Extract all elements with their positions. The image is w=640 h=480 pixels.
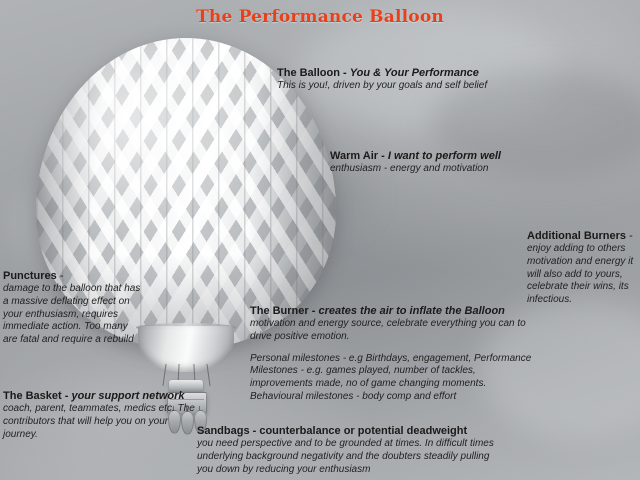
annotation-body: motivation and energy source, celebrate … [250,318,540,344]
annotation-heading: The Burner - creates the air to inflate … [250,304,540,318]
page-title: The Performance Balloon [0,7,640,27]
annotation-heading: The Balloon - You & Your Performance [277,66,537,80]
annotation-body: coach, parent, teammates, medics etc. Th… [3,403,195,441]
annotation-heading: Punctures - [3,269,143,283]
slide-canvas: The Performance Balloon The Balloon - Yo… [0,0,640,480]
heading-lead: Punctures [3,270,57,282]
annotation-body: enjoy adding to others motivation and en… [527,243,639,307]
heading-emphasis: I want to perform well [388,150,501,162]
annotation-additional-burners: Additional Burners - enjoy adding to oth… [527,229,639,307]
annotation-the-balloon: The Balloon - You & Your Performance Thi… [277,66,537,93]
heading-emphasis: You & Your Performance [350,67,479,79]
annotation-body: damage to the balloon that has a massive… [3,283,143,347]
annotation-punctures: Punctures - damage to the balloon that h… [3,269,143,347]
heading-lead: The Burner - [250,305,318,317]
annotation-the-basket: The Basket - your support network coach,… [3,389,195,441]
heading-emphasis: your support network [71,390,184,402]
heading-dash: - [57,270,64,282]
heading-emphasis: creates the air to inflate the Balloon [318,305,504,317]
annotation-body-secondary: Personal milestones - e.g Birthdays, eng… [250,353,540,404]
annotation-body: enthusiasm - energy and motivation [330,163,560,176]
annotation-the-burner: The Burner - creates the air to inflate … [250,304,540,404]
heading-lead: Warm Air - [330,150,388,162]
annotation-heading: Additional Burners - [527,229,639,243]
heading-lead: The Balloon - [277,67,350,79]
heading-lead: Additional Burners [527,230,626,242]
heading-lead: Sandbags - counterbalance or potential d… [197,425,467,437]
annotation-heading: The Basket - your support network [3,389,195,403]
annotation-heading: Warm Air - I want to perform well [330,149,560,163]
annotation-heading: Sandbags - counterbalance or potential d… [197,424,502,438]
annotation-sandbags: Sandbags - counterbalance or potential d… [197,424,502,476]
heading-dash: - [626,230,633,242]
annotation-body: you need perspective and to be grounded … [197,438,502,476]
annotation-warm-air: Warm Air - I want to perform well enthus… [330,149,560,176]
heading-lead: The Basket - [3,390,71,402]
annotation-body: This is you!, driven by your goals and s… [277,80,537,93]
